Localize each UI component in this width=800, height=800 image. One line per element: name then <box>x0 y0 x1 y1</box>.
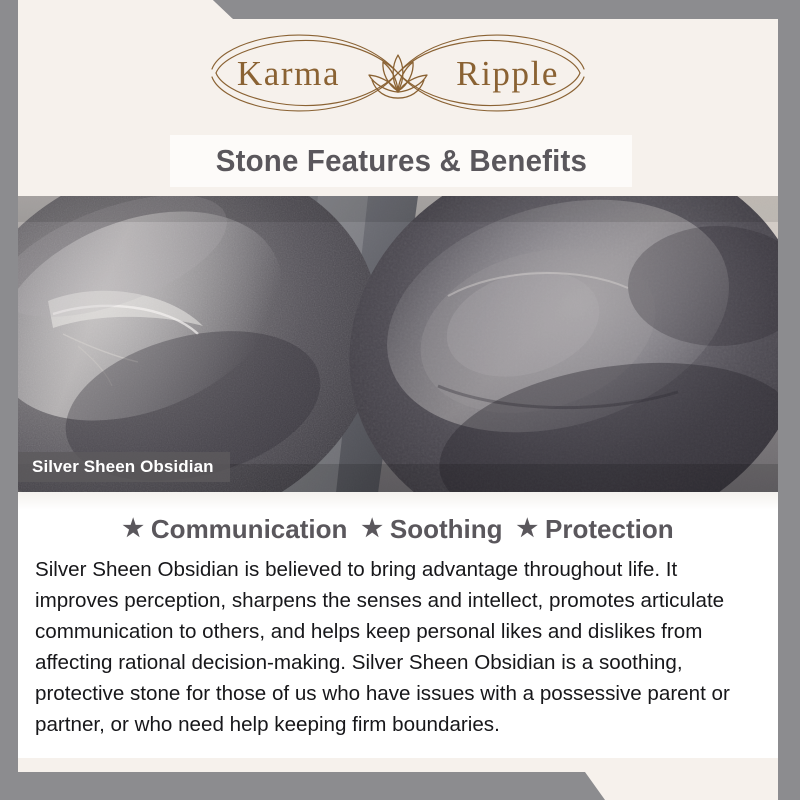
infographic-canvas: Karma Ripple <box>0 0 800 800</box>
page-title: Stone Features & Benefits <box>215 143 586 179</box>
lotus-icon <box>364 49 432 101</box>
title-banner: Stone Features & Benefits <box>170 135 632 187</box>
content-panel: ★ Communication ★ Soothing ★ Protection … <box>18 492 778 758</box>
cream-wedge-bottom-right <box>575 772 800 800</box>
brand-logo-area: Karma Ripple <box>18 18 778 128</box>
brand-logo: Karma Ripple <box>188 27 608 119</box>
benefit-keyword-protection: ★ Protection <box>517 514 674 545</box>
frame-band-right <box>778 0 800 800</box>
cream-wedge-top-left <box>0 0 234 19</box>
benefit-keyword-soothing: ★ Soothing <box>361 514 502 545</box>
photo-caption-label: Silver Sheen Obsidian <box>32 457 214 477</box>
stone-description: Silver Sheen Obsidian is believed to bri… <box>35 554 758 740</box>
brand-name-right: Ripple <box>456 56 559 91</box>
frame-band-left <box>0 0 18 800</box>
star-icon: ★ <box>517 517 539 541</box>
brand-name-left: Karma <box>237 56 340 91</box>
benefit-label: Communication <box>151 514 347 545</box>
benefit-label: Protection <box>545 514 674 545</box>
stone-photo-illustration <box>18 196 778 493</box>
benefit-keyword-row: ★ Communication ★ Soothing ★ Protection <box>18 492 778 545</box>
benefit-label: Soothing <box>390 514 503 545</box>
photo-caption: Silver Sheen Obsidian <box>18 452 230 482</box>
benefit-keyword-communication: ★ Communication <box>122 514 347 545</box>
stone-photo <box>18 196 778 493</box>
star-icon: ★ <box>122 517 144 541</box>
star-icon: ★ <box>361 517 383 541</box>
